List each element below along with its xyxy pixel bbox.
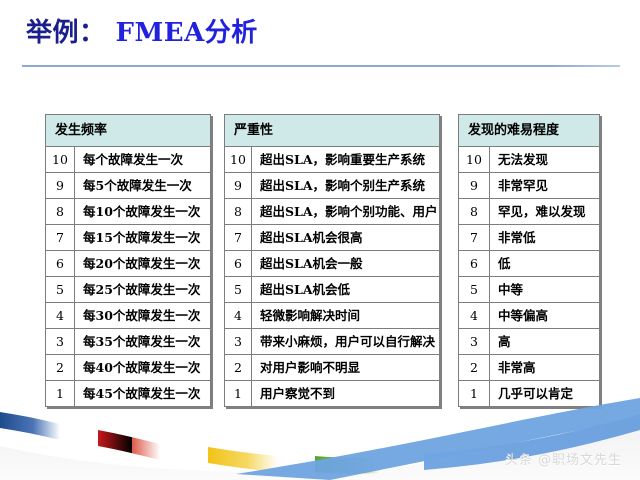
description-cell: 每45个故障发生一次 xyxy=(75,381,211,407)
table-row: 10超出SLA，影响重要生产系统 xyxy=(225,147,440,173)
description-cell: 对用户影响不明显 xyxy=(252,355,440,381)
table-row: 9超出SLA，影响个别生产系统 xyxy=(225,173,440,199)
table-row: 9非常罕见 xyxy=(459,173,600,199)
table-row: 7每15个故障发生一次 xyxy=(46,225,211,251)
description-cell: 每10个故障发生一次 xyxy=(75,199,211,225)
table-row: 8超出SLA，影响个别功能、用户 xyxy=(225,199,440,225)
page-title: 举例：FMEA分析 xyxy=(26,12,258,49)
table-row: 1每45个故障发生一次 xyxy=(46,381,211,407)
description-cell: 超出SLA，影响个别生产系统 xyxy=(252,173,440,199)
table-header-row: 发现的难易程度 xyxy=(459,115,600,147)
table-row: 6超出SLA机会一般 xyxy=(225,251,440,277)
slide-canvas: 举例：FMEA分析 发生频率 10每个故障发生一次 9每5个故障发生一次 8每1… xyxy=(0,0,640,480)
description-cell: 轻微影响解决时间 xyxy=(252,303,440,329)
table-row: 10无法发现 xyxy=(459,147,600,173)
description-cell: 用户察觉不到 xyxy=(252,381,440,407)
description-cell: 每30个故障发生一次 xyxy=(75,303,211,329)
score-cell: 9 xyxy=(225,173,252,199)
table-row: 5中等 xyxy=(459,277,600,303)
score-cell: 10 xyxy=(459,147,490,173)
table-row: 1用户察觉不到 xyxy=(225,381,440,407)
table-row: 2每40个故障发生一次 xyxy=(46,355,211,381)
table-detection-header-label: 发现的难易程度 xyxy=(459,115,600,147)
description-cell: 超出SLA机会低 xyxy=(252,277,440,303)
score-cell: 5 xyxy=(46,277,75,303)
table-row: 5每25个故障发生一次 xyxy=(46,277,211,303)
score-cell: 2 xyxy=(46,355,75,381)
table-row: 2对用户影响不明显 xyxy=(225,355,440,381)
description-cell: 带来小麻烦，用户可以自行解决 xyxy=(252,329,440,355)
score-cell: 2 xyxy=(459,355,490,381)
description-cell: 低 xyxy=(490,251,600,277)
ribbon-blue xyxy=(0,412,60,440)
table-row: 3每35个故障发生一次 xyxy=(46,329,211,355)
description-cell: 非常低 xyxy=(490,225,600,251)
score-cell: 3 xyxy=(46,329,75,355)
table-detection: 发现的难易程度 10无法发现 9非常罕见 8罕见，难以发现 7非常低 6低 5中… xyxy=(458,114,600,407)
table-occurrence: 发生频率 10每个故障发生一次 9每5个故障发生一次 8每10个故障发生一次 7… xyxy=(45,114,211,407)
description-cell: 罕见，难以发现 xyxy=(490,199,600,225)
ribbon-green xyxy=(315,456,382,474)
table-row: 7非常低 xyxy=(459,225,600,251)
description-cell: 超出SLA机会很高 xyxy=(252,225,440,251)
table-row: 4每30个故障发生一次 xyxy=(46,303,211,329)
score-cell: 4 xyxy=(459,303,490,329)
score-cell: 6 xyxy=(46,251,75,277)
score-cell: 7 xyxy=(46,225,75,251)
table-row: 7超出SLA机会很高 xyxy=(225,225,440,251)
table-severity-header-label: 严重性 xyxy=(225,115,440,147)
score-cell: 4 xyxy=(225,303,252,329)
score-cell: 10 xyxy=(225,147,252,173)
score-cell: 2 xyxy=(225,355,252,381)
score-cell: 5 xyxy=(459,277,490,303)
score-cell: 7 xyxy=(459,225,490,251)
description-cell: 每个故障发生一次 xyxy=(75,147,211,173)
table-row: 3带来小麻烦，用户可以自行解决 xyxy=(225,329,440,355)
score-cell: 8 xyxy=(225,199,252,225)
table-row: 10每个故障发生一次 xyxy=(46,147,211,173)
table-detection-head: 发现的难易程度 xyxy=(459,115,600,147)
description-cell: 每35个故障发生一次 xyxy=(75,329,211,355)
description-cell: 每15个故障发生一次 xyxy=(75,225,211,251)
description-cell: 高 xyxy=(490,329,600,355)
table-row: 3高 xyxy=(459,329,600,355)
ribbon-yellow xyxy=(208,447,278,472)
description-cell: 中等偏高 xyxy=(490,303,600,329)
description-cell: 每5个故障发生一次 xyxy=(75,173,211,199)
score-cell: 1 xyxy=(459,381,490,407)
table-severity-head: 严重性 xyxy=(225,115,440,147)
description-cell: 每40个故障发生一次 xyxy=(75,355,211,381)
score-cell: 8 xyxy=(46,199,75,225)
description-cell: 非常高 xyxy=(490,355,600,381)
table-row: 4轻微影响解决时间 xyxy=(225,303,440,329)
description-cell: 非常罕见 xyxy=(490,173,600,199)
description-cell: 几乎可以肯定 xyxy=(490,381,600,407)
page-title-prefix: 举例： xyxy=(26,18,106,48)
score-cell: 4 xyxy=(46,303,75,329)
table-row: 4中等偏高 xyxy=(459,303,600,329)
score-cell: 1 xyxy=(225,381,252,407)
table-occurrence-head: 发生频率 xyxy=(46,115,211,147)
score-cell: 7 xyxy=(225,225,252,251)
table-row: 9每5个故障发生一次 xyxy=(46,173,211,199)
score-cell: 3 xyxy=(225,329,252,355)
page-title-main: FMEA分析 xyxy=(116,18,258,48)
description-cell: 超出SLA，影响重要生产系统 xyxy=(252,147,440,173)
table-header-row: 发生频率 xyxy=(46,115,211,147)
description-cell: 每20个故障发生一次 xyxy=(75,251,211,277)
table-detection-body: 10无法发现 9非常罕见 8罕见，难以发现 7非常低 6低 5中等 4中等偏高 … xyxy=(459,147,600,407)
score-cell: 6 xyxy=(459,251,490,277)
table-header-row: 严重性 xyxy=(225,115,440,147)
score-cell: 9 xyxy=(46,173,75,199)
description-cell: 无法发现 xyxy=(490,147,600,173)
table-row: 2非常高 xyxy=(459,355,600,381)
watermark-label: 头条 @职场文先生 xyxy=(505,449,622,468)
table-row: 8每10个故障发生一次 xyxy=(46,199,211,225)
score-cell: 10 xyxy=(46,147,75,173)
score-cell: 5 xyxy=(225,277,252,303)
score-cell: 9 xyxy=(459,173,490,199)
description-cell: 中等 xyxy=(490,277,600,303)
description-cell: 超出SLA，影响个别功能、用户 xyxy=(252,199,440,225)
table-row: 6低 xyxy=(459,251,600,277)
table-occurrence-body: 10每个故障发生一次 9每5个故障发生一次 8每10个故障发生一次 7每15个故… xyxy=(46,147,211,407)
ribbon-red xyxy=(98,430,160,460)
description-cell: 超出SLA机会一般 xyxy=(252,251,440,277)
table-row: 1几乎可以肯定 xyxy=(459,381,600,407)
score-cell: 3 xyxy=(459,329,490,355)
table-row: 8罕见，难以发现 xyxy=(459,199,600,225)
score-cell: 8 xyxy=(459,199,490,225)
table-occurrence-header-label: 发生频率 xyxy=(46,115,211,147)
title-divider xyxy=(22,65,620,67)
score-cell: 6 xyxy=(225,251,252,277)
score-cell: 1 xyxy=(46,381,75,407)
table-severity-body: 10超出SLA，影响重要生产系统 9超出SLA，影响个别生产系统 8超出SLA，… xyxy=(225,147,440,407)
table-severity: 严重性 10超出SLA，影响重要生产系统 9超出SLA，影响个别生产系统 8超出… xyxy=(224,114,440,407)
table-row: 5超出SLA机会低 xyxy=(225,277,440,303)
description-cell: 每25个故障发生一次 xyxy=(75,277,211,303)
table-row: 6每20个故障发生一次 xyxy=(46,251,211,277)
